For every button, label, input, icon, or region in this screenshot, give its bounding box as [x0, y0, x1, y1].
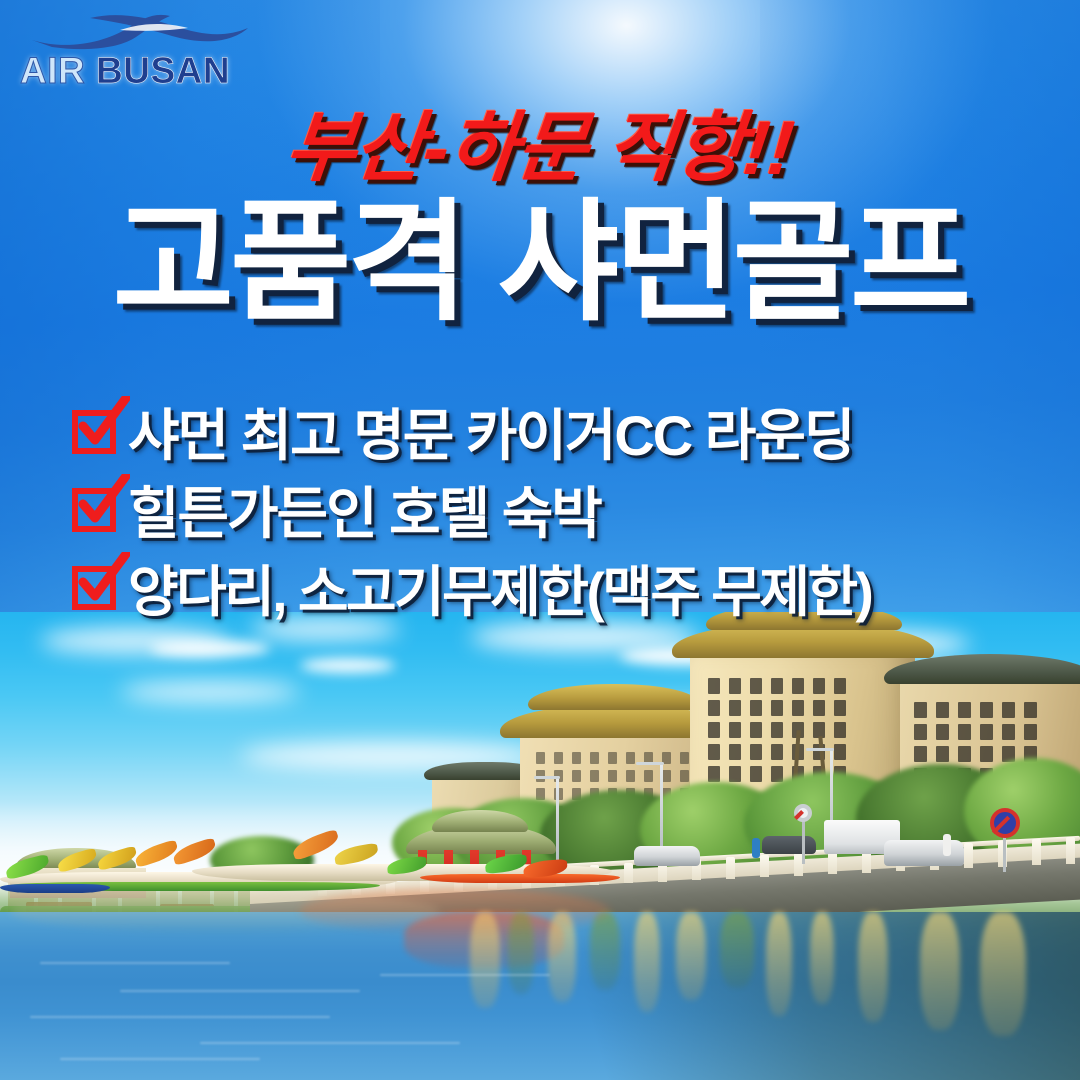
ripple: [200, 1042, 460, 1044]
ripple: [60, 1058, 260, 1060]
street-lamp-pole: [660, 762, 663, 858]
car: [884, 840, 964, 866]
baluster: [1066, 837, 1075, 864]
feature-list: 샤먼 최고 명문 카이거CC 라운딩 힐튼가든인 호텔 숙박 양다리, 소고기무…: [72, 392, 1052, 626]
ripple: [40, 962, 230, 964]
logo-air-text: AIR: [20, 50, 85, 91]
building-reflection: [858, 912, 888, 1022]
building-reflection: [920, 912, 960, 1030]
building-reflection: [634, 912, 660, 1012]
pedestrian: [943, 834, 951, 856]
tree-reflection: [590, 912, 620, 990]
round-sign-icon: [794, 804, 812, 822]
baluster: [624, 863, 633, 883]
checkbox-checked-icon: [72, 484, 122, 534]
baluster: [760, 855, 769, 877]
list-item: 양다리, 소고기무제한(맥주 무제한): [72, 548, 1052, 626]
street-lamp-arm: [534, 776, 560, 779]
no-parking-icon: [990, 808, 1020, 838]
list-item-label: 양다리, 소고기무제한(맥주 무제한): [128, 547, 871, 627]
tree-reflection: [720, 912, 754, 988]
boat-reflection: [300, 888, 610, 934]
street-lamp-pole: [556, 776, 559, 864]
baluster: [726, 857, 735, 879]
sign-pole: [802, 818, 805, 864]
list-item: 힐튼가든인 호텔 숙박: [72, 470, 1052, 548]
building-reflection: [766, 912, 792, 1016]
car: [634, 846, 700, 866]
list-item-label: 힐튼가든인 호텔 숙박: [128, 469, 601, 550]
building-reflection: [980, 912, 1026, 1036]
promo-poster: AIR BUSAN 부산-하문 직항!! 고품격 샤먼골프 샤먼 최고 명문 카…: [0, 0, 1080, 1080]
headline-text: 부산-하문 직항!!: [0, 86, 1080, 196]
baluster: [1032, 839, 1041, 865]
cloud: [150, 640, 270, 657]
dragon-boat-stripe: [0, 884, 110, 893]
logo-busan-text: BUSAN: [96, 50, 230, 91]
dragon-boat-stripe: [420, 874, 620, 883]
bird-wing-mark-icon: [24, 10, 254, 54]
car-dark: [762, 836, 816, 854]
pedestrian: [752, 838, 760, 858]
baluster: [828, 851, 837, 874]
ripple: [120, 990, 360, 992]
street-lamp-arm: [806, 748, 834, 751]
air-busan-logo: AIR BUSAN: [18, 8, 268, 90]
building-reflection: [810, 912, 834, 1004]
list-item-label: 샤먼 최고 명문 카이거CC 라운딩: [128, 391, 853, 472]
ripple: [30, 1016, 330, 1018]
page-title: 고품격 샤먼골프: [0, 190, 1080, 335]
cloud: [120, 682, 300, 702]
checkbox-checked-icon: [72, 406, 122, 456]
list-item: 샤먼 최고 명문 카이거CC 라운딩: [72, 392, 1052, 470]
building-reflection: [676, 912, 706, 1000]
baluster: [964, 843, 973, 868]
cloud: [300, 658, 395, 673]
checkbox-checked-icon: [72, 562, 122, 612]
hero-photo: [0, 612, 1080, 1080]
street-lamp-arm: [636, 762, 664, 765]
ripple: [380, 974, 550, 976]
